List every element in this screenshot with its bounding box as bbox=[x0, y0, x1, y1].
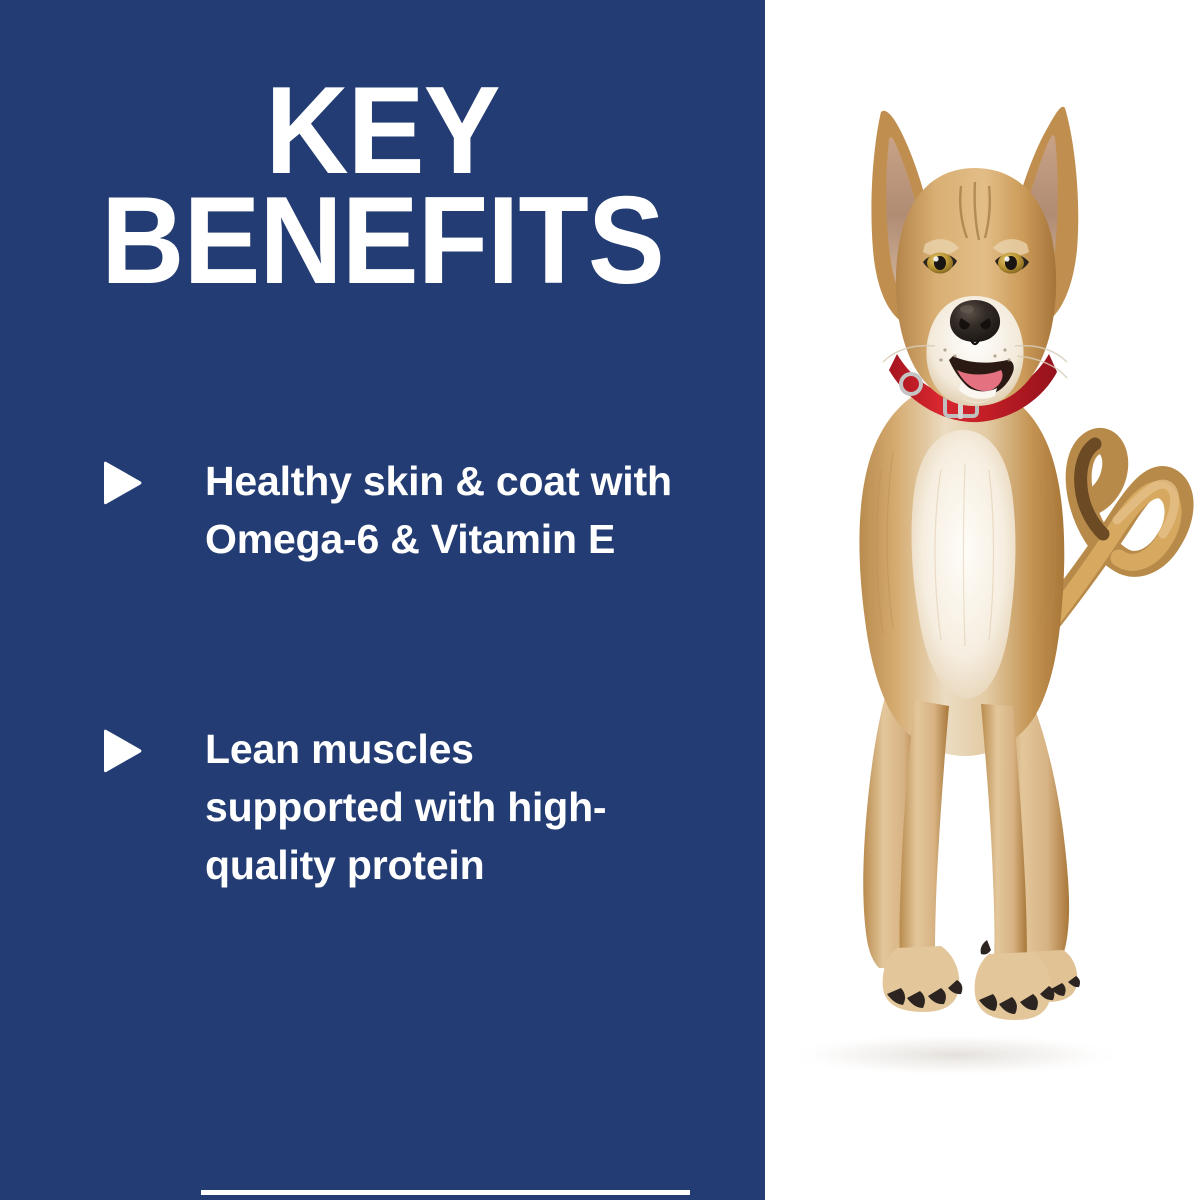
body bbox=[859, 380, 1064, 756]
page-title: KEY BENEFITS bbox=[27, 76, 738, 296]
list-item: Healthy skin & coat with Omega-6 & Vitam… bbox=[0, 452, 765, 568]
list-item: Lean muscles supported with high-quality… bbox=[0, 720, 765, 894]
dog-photo bbox=[765, 0, 1199, 1200]
benefit-text: Healthy skin & coat with Omega-6 & Vitam… bbox=[205, 452, 675, 568]
triangle-bullet-icon bbox=[100, 460, 144, 506]
ground-shadow bbox=[780, 1033, 1130, 1077]
divider bbox=[201, 1190, 690, 1195]
nose bbox=[950, 300, 1000, 342]
benefits-list: Healthy skin & coat with Omega-6 & Vitam… bbox=[0, 452, 765, 894]
benefits-panel: KEY BENEFITS Healthy skin & coat with Om… bbox=[0, 0, 765, 1200]
benefit-text: Lean muscles supported with high-quality… bbox=[205, 720, 675, 894]
triangle-bullet-icon bbox=[100, 728, 144, 774]
key-benefits-banner: KEY BENEFITS Healthy skin & coat with Om… bbox=[0, 0, 1199, 1200]
